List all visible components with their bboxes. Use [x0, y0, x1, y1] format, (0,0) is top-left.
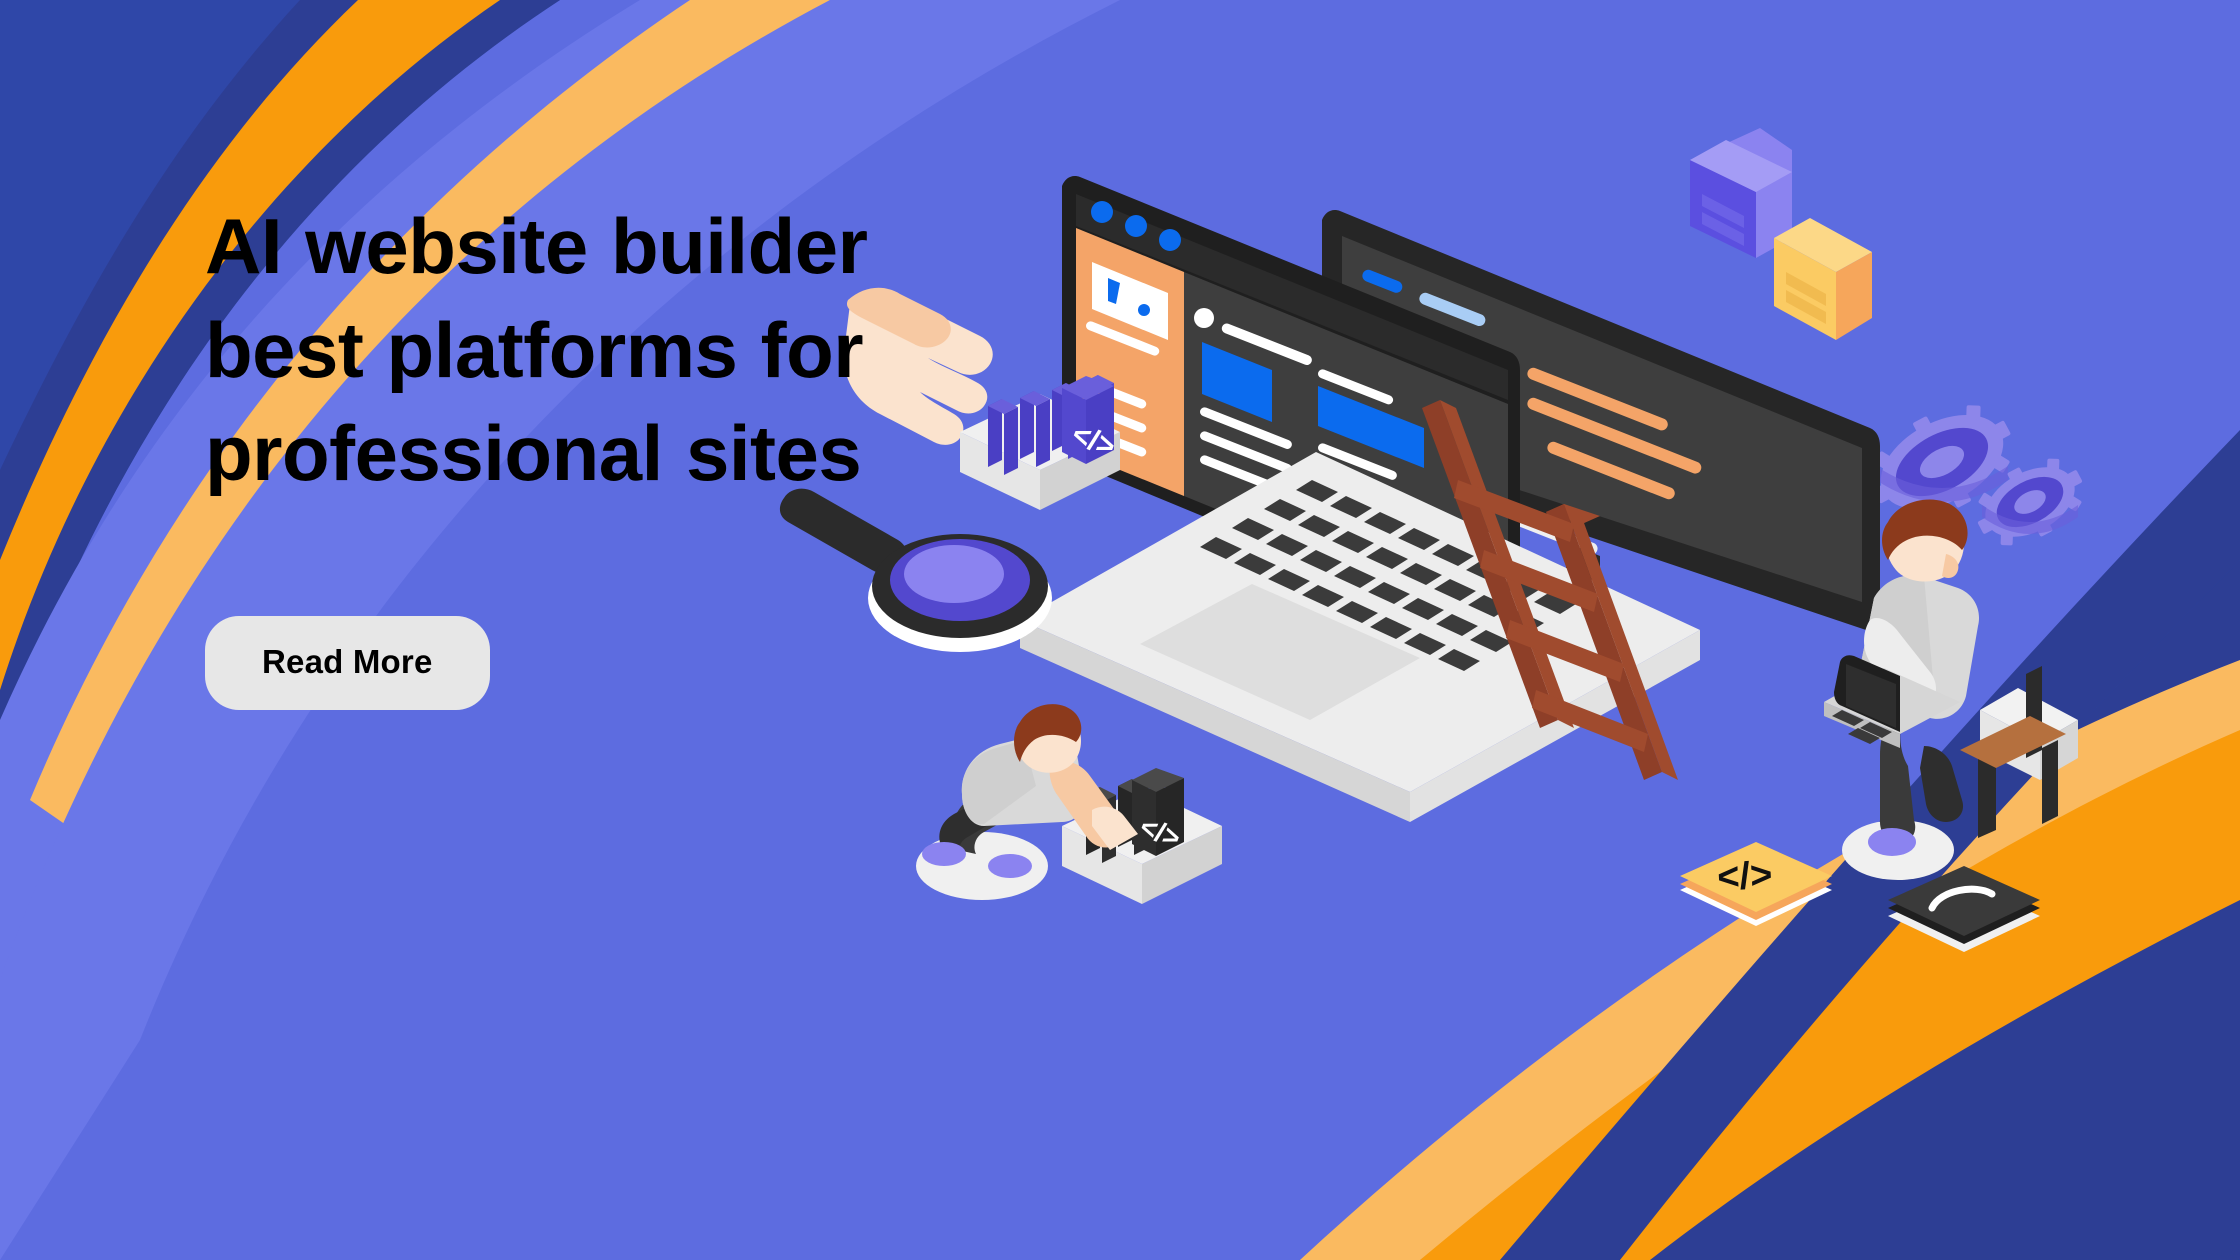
code-tile-yellow: </>	[1680, 842, 1832, 926]
code-box-left: </>	[960, 361, 1120, 510]
isometric-illustration: </>	[1080, 150, 2140, 1000]
page-title: AI website builder best platforms for pr…	[205, 195, 925, 506]
card-yellow-icon	[1774, 218, 1872, 340]
cta-container: Read More	[205, 616, 925, 710]
read-more-button[interactable]: Read More	[205, 616, 490, 710]
svg-text:</>: </>	[1716, 854, 1773, 899]
promo-banner: AI website builder best platforms for pr…	[0, 0, 2240, 1260]
text-content: AI website builder best platforms for pr…	[205, 195, 925, 710]
